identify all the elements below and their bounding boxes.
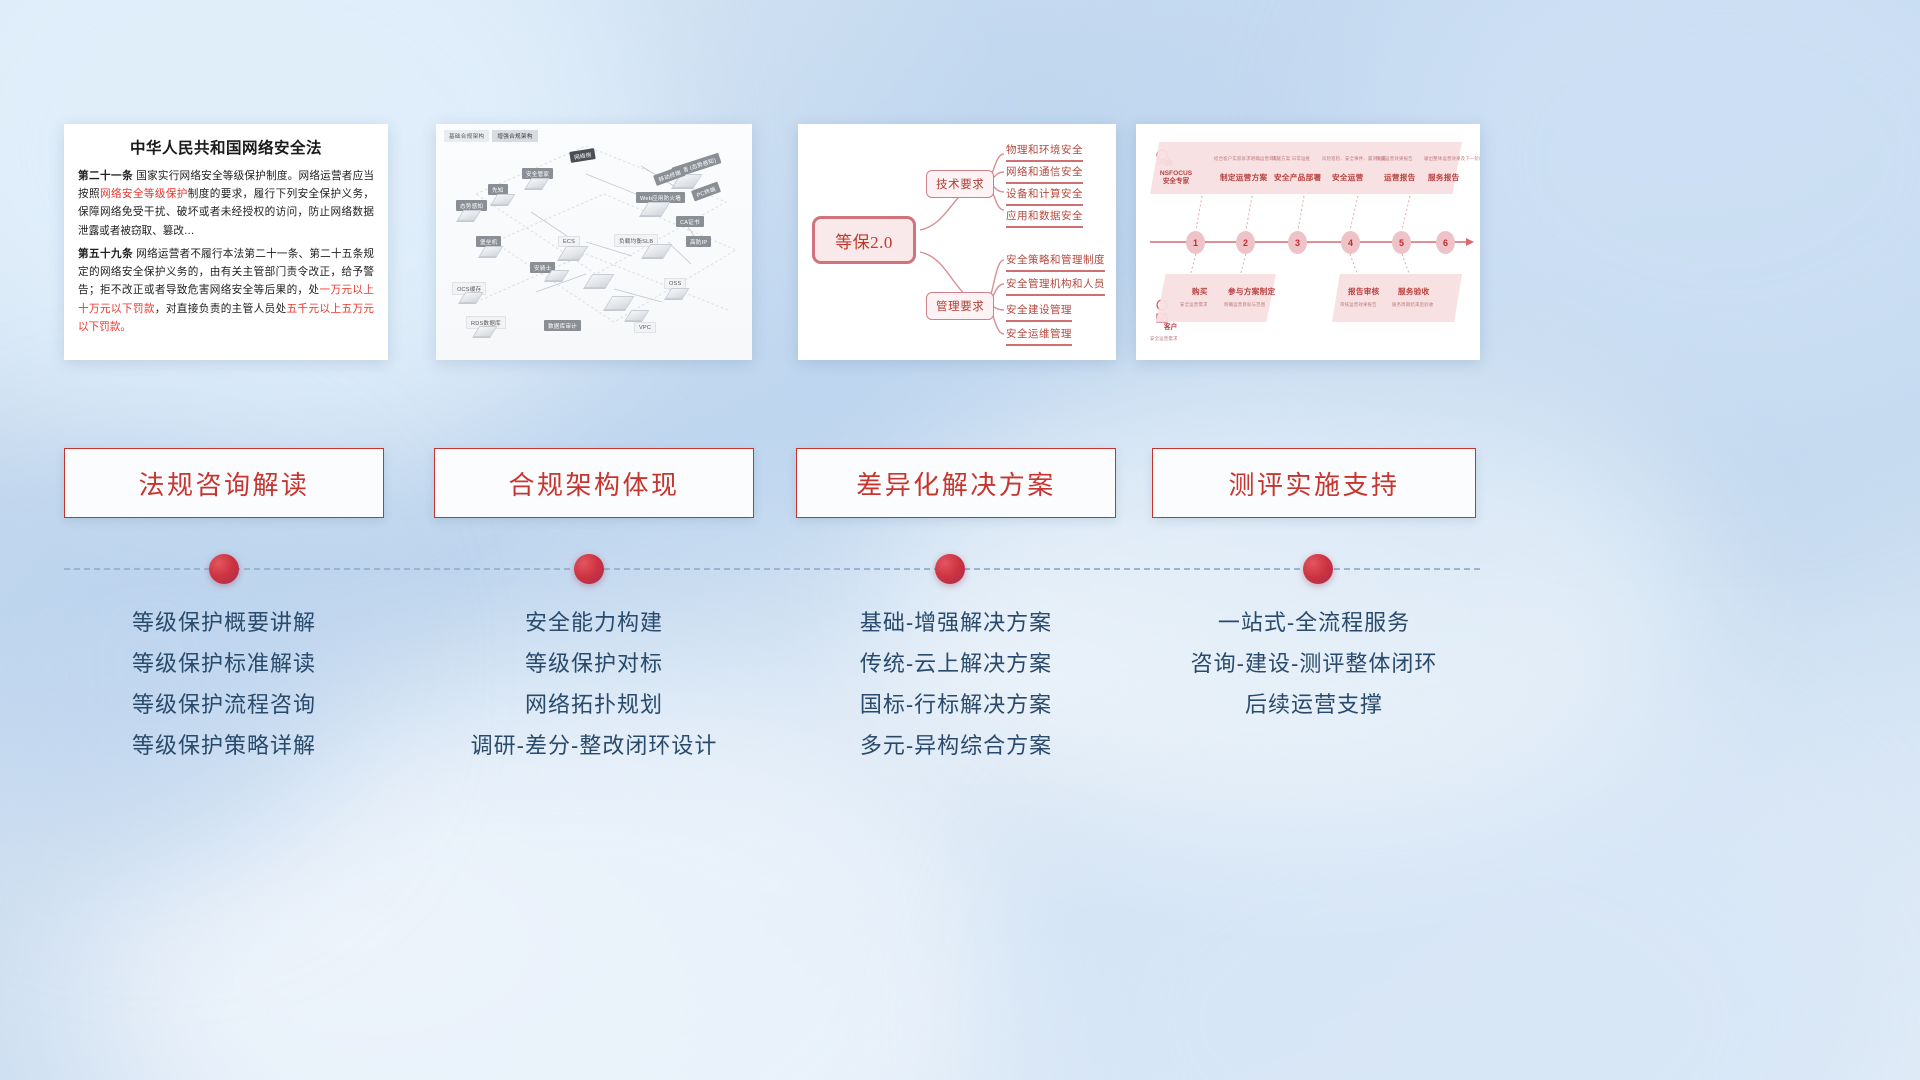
timeline-top-label-3: 安全运营: [1332, 172, 1364, 183]
slide-stage: 中华人民共和国网络安全法 第二十一条 国家实行网络安全等级保护制度。网络运营者应…: [0, 0, 1920, 1080]
list-item: 传统-云上解决方案: [796, 643, 1116, 684]
section-heading-row: 法规咨询解读 合规架构体现 差异化解决方案 测评实施支持: [0, 448, 1920, 520]
mindmap-branch-technical: 技术要求: [926, 170, 994, 198]
timeline-persona-customer: 客户: [1164, 324, 1177, 332]
law-article-59-text-b: ，对直接负责的主管人员处: [155, 303, 287, 315]
timeline-marker-1: 1: [1186, 231, 1205, 254]
list-item: 网络拓扑规划: [434, 684, 754, 725]
section-items-column-2: 安全能力构建 等级保护对标 网络拓扑规划 调研-差分-整改闭环设计: [434, 602, 754, 767]
timeline-axis-dot-2[interactable]: [574, 554, 604, 584]
section-items-column-4: 一站式-全流程服务 咨询-建设-测评整体闭环 后续运营支撑: [1152, 602, 1476, 725]
timeline-marker-3: 3: [1288, 231, 1307, 254]
law-article-21-highlight: 网络安全等级保护: [100, 188, 188, 200]
list-item: 国标-行标解决方案: [796, 684, 1116, 725]
timeline-axis-dot-1[interactable]: [209, 554, 239, 584]
arch-node-vpc: VPC: [634, 322, 656, 333]
timeline-marker-2: 2: [1236, 231, 1255, 254]
mindmap-leaf-policy-system: 安全策略和管理制度: [1006, 252, 1105, 272]
architecture-tab-group[interactable]: 基础合规架构 增强合规架构: [444, 130, 538, 142]
list-item: 等级保护概要讲解: [64, 602, 384, 643]
timeline-top-label-2: 安全产品部署: [1274, 172, 1321, 183]
timeline-top-sub-2: 实施方案 日常运维: [1272, 156, 1310, 162]
timeline-bottom-sub-1: 安全运营需求: [1180, 302, 1208, 308]
mindmap-canvas: 等保2.0 技术要求 管理要求 物理和环境安全 网络和通信安全 设备和计算安全 …: [798, 124, 1116, 360]
timeline-bottom-band-left: [1156, 274, 1276, 322]
list-item: 等级保护策略详解: [64, 725, 384, 766]
timeline-bottom-label-2: 参与方案制定: [1228, 286, 1275, 297]
section-heading-box-1[interactable]: 法规咨询解读: [64, 448, 384, 518]
section-heading-label-1: 法规咨询解读: [138, 465, 309, 502]
timeline-top-label-4: 运营报告: [1384, 172, 1416, 183]
timeline-bottom-sub-3: 审核运营效果报告: [1340, 302, 1377, 308]
list-item: 等级保护对标: [434, 643, 754, 684]
law-title: 中华人民共和国网络安全法: [78, 136, 374, 158]
timeline-marker-5: 5: [1392, 231, 1411, 254]
arch-node-ca-certificate: CA证书: [676, 216, 704, 227]
cloud-architecture-diagram: 基础合规架构 增强合规架构 网络侧 安全管家 先知 态势感知 堡垒机 ECS 安…: [436, 124, 752, 360]
list-item: 安全能力构建: [434, 602, 754, 643]
timeline-bottom-label-1: 购买: [1192, 286, 1208, 297]
mindmap-leaf-physical-env: 物理和环境安全: [1006, 142, 1083, 162]
mindmap-leaf-ops-mgmt: 安全运维管理: [1006, 326, 1072, 346]
preview-card-row: 中华人民共和国网络安全法 第二十一条 国家实行网络安全等级保护制度。网络运营者应…: [0, 124, 1920, 362]
list-item: 基础-增强解决方案: [796, 602, 1116, 643]
timeline-bottom-band-right: [1332, 274, 1462, 322]
section-items-column-3: 基础-增强解决方案 传统-云上解决方案 国标-行标解决方案 多元-异构综合方案: [796, 602, 1116, 767]
section-heading-label-2: 合规架构体现: [508, 465, 679, 502]
timeline-axis: [0, 540, 1920, 600]
mindmap-leaf-app-data: 应用和数据安全: [1006, 208, 1083, 228]
architecture-tab-enhanced[interactable]: 增强合规架构: [492, 130, 537, 142]
mindmap-leaf-network-comm: 网络和通信安全: [1006, 164, 1083, 184]
architecture-tab-basic[interactable]: 基础合规架构: [444, 130, 489, 142]
djcp-mindmap-card[interactable]: 等保2.0 技术要求 管理要求 物理和环境安全 网络和通信安全 设备和计算安全 …: [798, 124, 1116, 360]
service-timeline-diagram: NSFOCUS 安全专家 客户 安全运营需求 结合客户实际诉求明确运营目标 制定…: [1136, 124, 1480, 360]
timeline-bottom-sub-4: 服务周期结束后验收: [1392, 302, 1433, 308]
list-item: 等级保护流程咨询: [64, 684, 384, 725]
mindmap-leaf-construction-mgmt: 安全建设管理: [1006, 302, 1072, 322]
timeline-top-sub-4: 阶段运营效果报告: [1376, 156, 1413, 162]
timeline-marker-6: 6: [1436, 231, 1455, 254]
law-article-21: 第二十一条 国家实行网络安全等级保护制度。网络运营者应当按照网络安全等级保护制度…: [78, 167, 374, 240]
mindmap-branch-management: 管理要求: [926, 292, 994, 320]
timeline-top-label-1: 制定运营方案: [1220, 172, 1267, 183]
cloud-architecture-card[interactable]: 基础合规架构 增强合规架构 网络侧 安全管家 先知 态势感知 堡垒机 ECS 安…: [436, 124, 752, 360]
law-document-card[interactable]: 中华人民共和国网络安全法 第二十一条 国家实行网络安全等级保护制度。网络运营者应…: [64, 124, 388, 360]
timeline-persona-expert: NSFOCUS 安全专家: [1152, 170, 1200, 186]
timeline-bottom-label-4: 服务验收: [1398, 286, 1430, 297]
law-document-body: 中华人民共和国网络安全法 第二十一条 国家实行网络安全等级保护制度。网络运营者应…: [64, 124, 388, 349]
mindmap-root-node: 等保2.0: [812, 216, 916, 264]
list-item: 等级保护标准解读: [64, 643, 384, 684]
arch-node-database-audit: 数据库审计: [544, 320, 581, 331]
timeline-top-sub-1: 结合客户实际诉求明确运营目标: [1214, 156, 1278, 162]
list-item: 多元-异构综合方案: [796, 725, 1116, 766]
timeline-axis-dot-4[interactable]: [1303, 554, 1333, 584]
section-items-column-1: 等级保护概要讲解 等级保护标准解读 等级保护流程咨询 等级保护策略详解: [64, 602, 384, 767]
section-heading-label-3: 差异化解决方案: [856, 465, 1056, 502]
section-heading-box-4[interactable]: 测评实施支持: [1152, 448, 1476, 518]
law-article-59: 第五十九条 网络运营者不履行本法第二十一条、第二十五条规定的网络安全保护义务的，…: [78, 245, 374, 336]
timeline-bottom-sub-2: 明确运营目标与范围: [1224, 302, 1265, 308]
timeline-marker-4: 4: [1341, 231, 1360, 254]
section-heading-box-3[interactable]: 差异化解决方案: [796, 448, 1116, 518]
list-item: 后续运营支撑: [1152, 684, 1476, 725]
timeline-axis-dot-3[interactable]: [935, 554, 965, 584]
law-article-21-label: 第二十一条: [78, 170, 133, 182]
list-item: 一站式-全流程服务: [1152, 602, 1476, 643]
arch-node-anti-ddos-ip: 高防IP: [686, 236, 711, 247]
nsfocus-service-timeline-card[interactable]: NSFOCUS 安全专家 客户 安全运营需求 结合客户实际诉求明确运营目标 制定…: [1136, 124, 1480, 360]
mindmap-leaf-org-personnel: 安全管理机构和人员: [1006, 276, 1105, 296]
law-article-59-label: 第五十九条: [78, 248, 133, 260]
timeline-top-label-5: 服务报告: [1428, 172, 1460, 183]
section-heading-label-4: 测评实施支持: [1228, 465, 1399, 502]
list-item: 调研-差分-整改闭环设计: [434, 725, 754, 766]
timeline-top-sub-5: 输出整体运营效果及下一阶段运营规划: [1424, 156, 1480, 162]
timeline-axis-line: [64, 568, 1480, 570]
list-item: 咨询-建设-测评整体闭环: [1152, 643, 1476, 684]
timeline-persona-customer-sub: 安全运营需求: [1150, 336, 1178, 342]
mindmap-leaf-device-compute: 设备和计算安全: [1006, 186, 1083, 206]
timeline-bottom-label-3: 报告审核: [1348, 286, 1380, 297]
section-heading-box-2[interactable]: 合规架构体现: [434, 448, 754, 518]
